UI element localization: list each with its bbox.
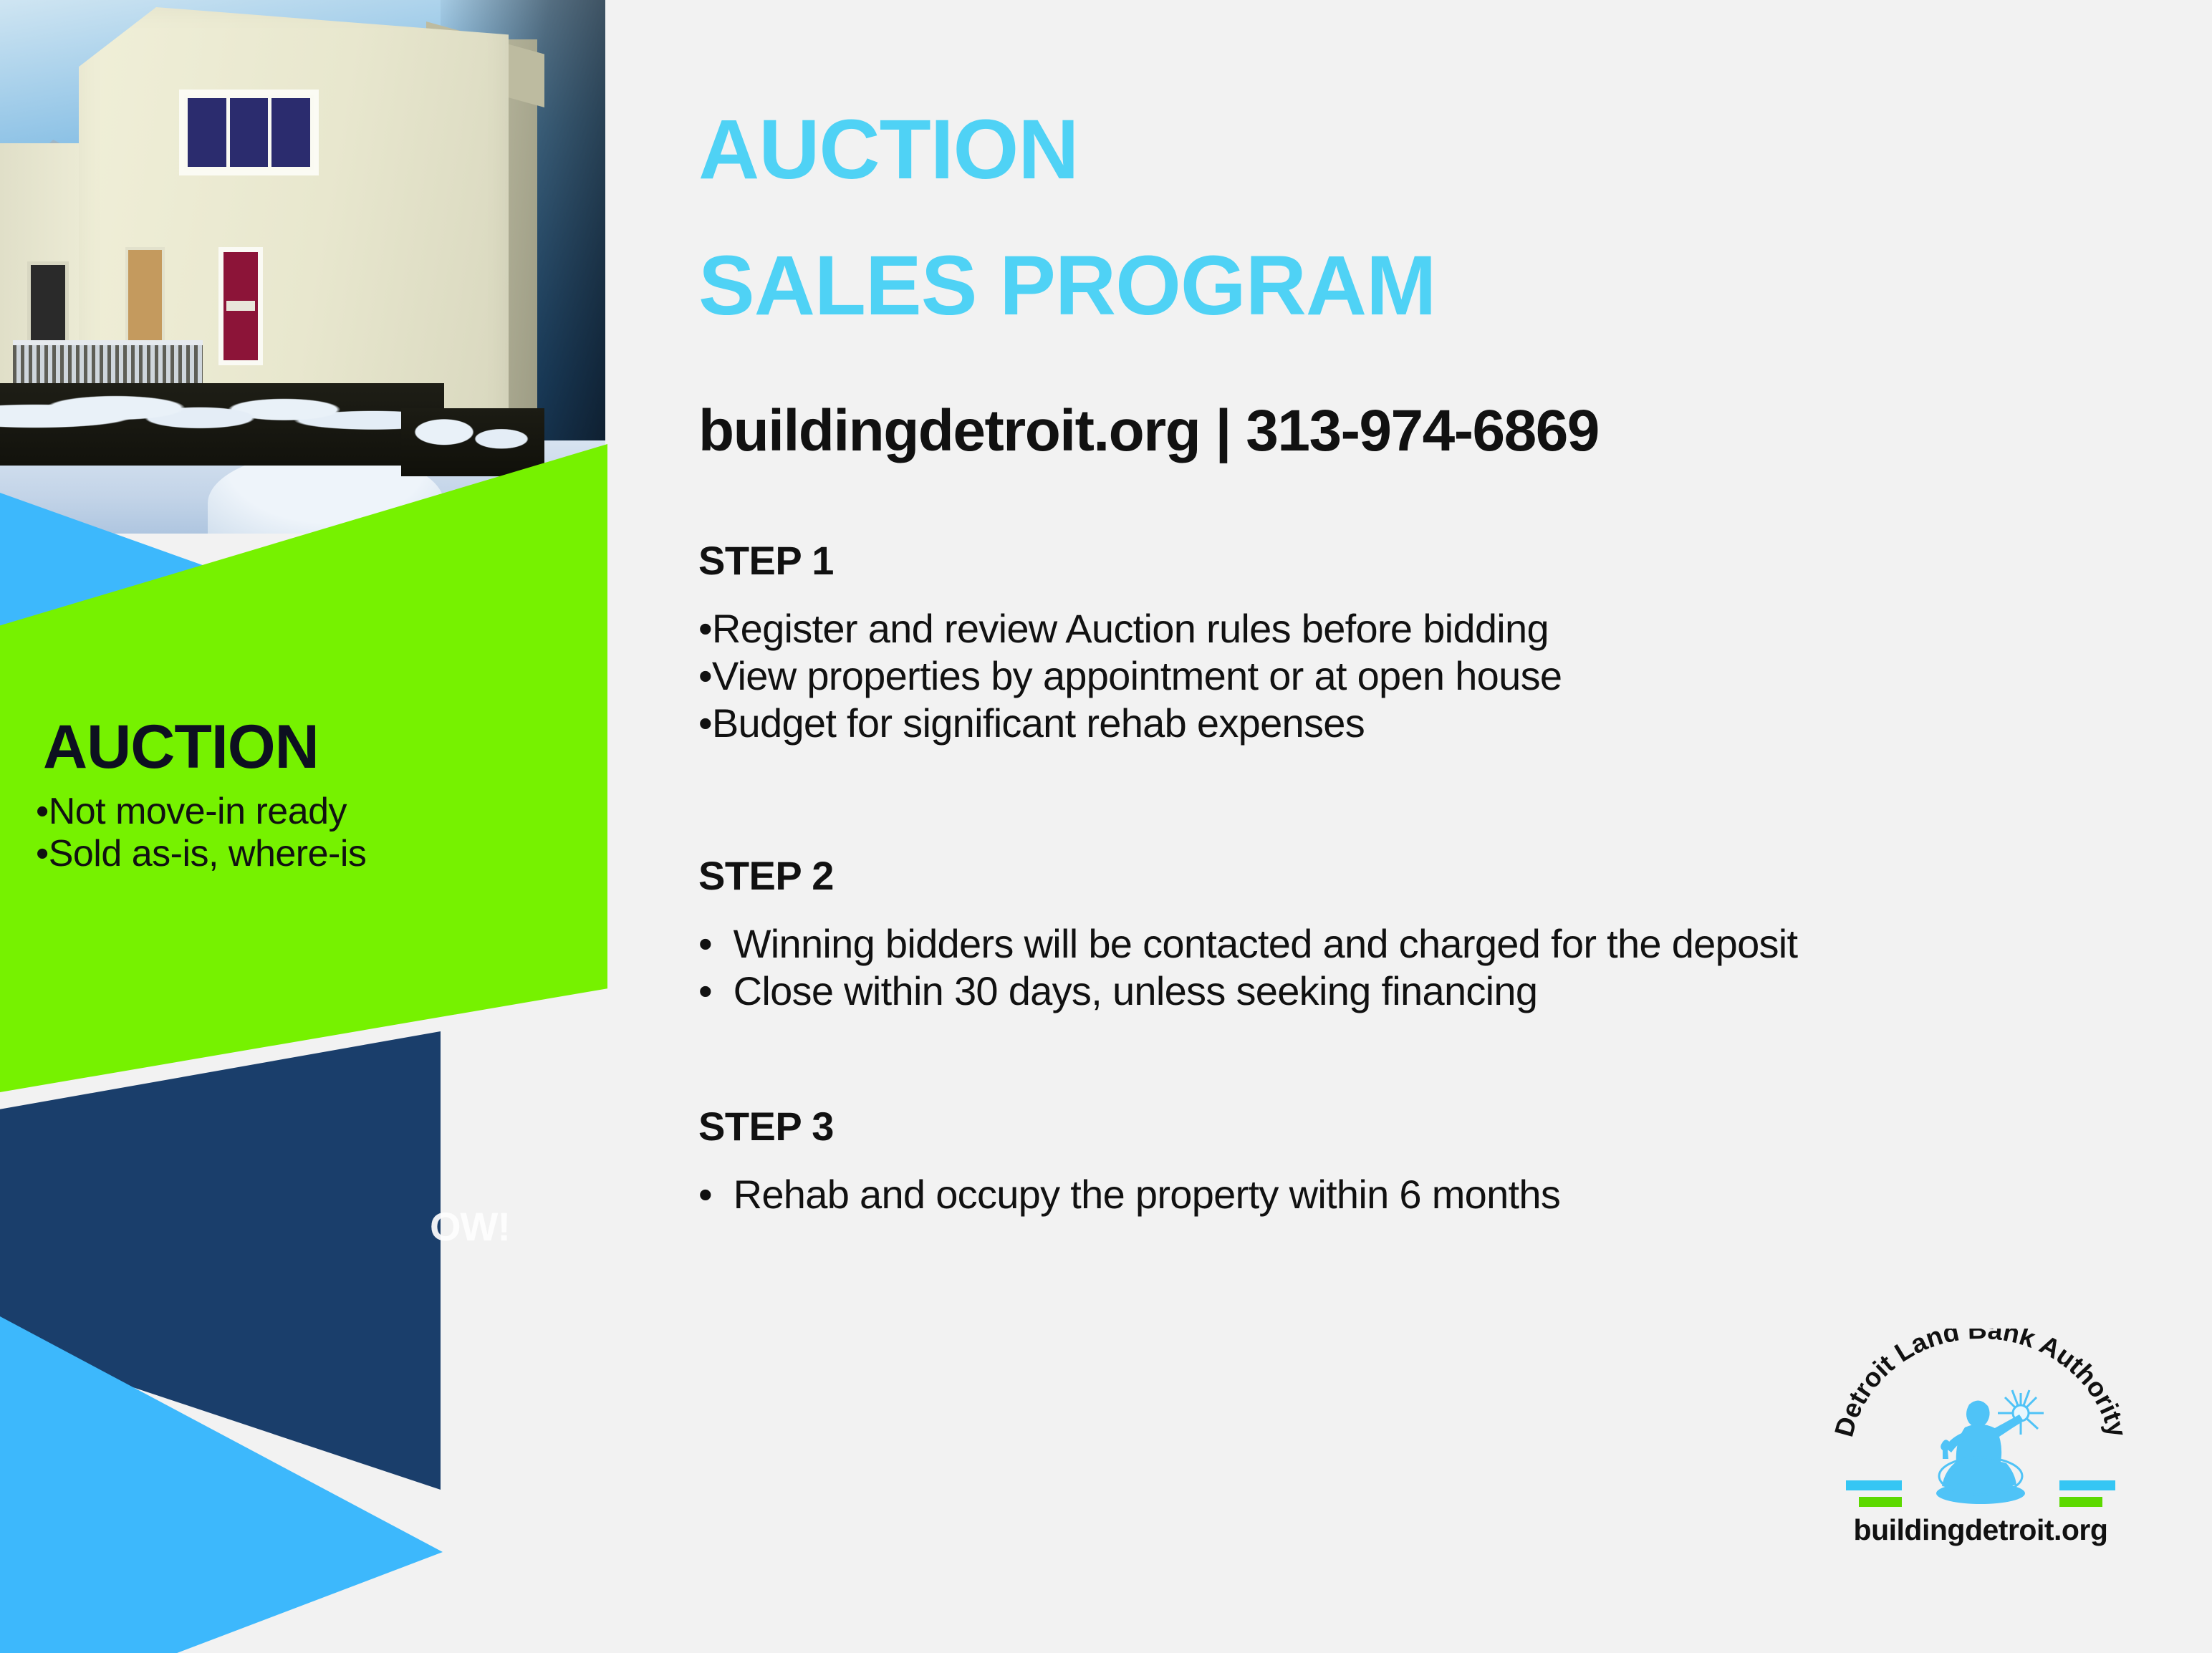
- window-pane: [230, 98, 269, 167]
- green-panel-heading: AUCTION: [0, 716, 559, 778]
- step-item-list: •Register and review Auction rules befor…: [698, 605, 2131, 747]
- step-item: •View properties by appointment or at op…: [698, 652, 2131, 700]
- green-panel-text: AUCTION •Not move-in ready •Sold as-is, …: [0, 716, 559, 875]
- step-section-1: STEP 1 •Register and review Auction rule…: [698, 537, 2131, 747]
- step-item-list: • Winning bidders will be contacted and …: [698, 920, 2131, 1015]
- step-item: • Rehab and occupy the property within 6…: [698, 1171, 2131, 1218]
- step-item: •Budget for significant rehab expenses: [698, 700, 2131, 747]
- window-pane: [188, 98, 226, 167]
- boarded-door: [125, 247, 165, 344]
- detroit-land-bank-logo: Detroit Land Bank Authority: [1830, 1329, 2131, 1572]
- green-panel-bullets: •Not move-in ready •Sold as-is, where-is: [0, 791, 559, 875]
- dash-cyan: [1846, 1480, 1902, 1490]
- green-bullet-item: •Sold as-is, where-is: [36, 833, 559, 875]
- dash-green: [1859, 1497, 1902, 1507]
- step-label: STEP 1: [698, 537, 2131, 584]
- snowy-bushes: [0, 383, 444, 466]
- logo-url-text: buildingdetroit.org: [1830, 1513, 2131, 1547]
- left-graphic-column: AUCTION •Not move-in ready •Sold as-is, …: [0, 0, 630, 1653]
- property-photo: [0, 0, 605, 534]
- spirit-of-detroit-icon: [1915, 1384, 2047, 1510]
- step-label: STEP 2: [698, 852, 2131, 899]
- green-bullet-item: •Not move-in ready: [36, 791, 559, 833]
- snowy-bushes-right: [401, 408, 544, 476]
- front-door: [218, 247, 263, 365]
- step-section-3: STEP 3 • Rehab and occupy the property w…: [698, 1103, 2131, 1218]
- logo-dash-left: [1846, 1480, 1902, 1507]
- step-item: • Winning bidders will be contacted and …: [698, 920, 2131, 968]
- window-pane: [271, 98, 310, 167]
- step-item: •Register and review Auction rules befor…: [698, 605, 2131, 652]
- page-title-line-1: AUCTION: [698, 107, 1079, 192]
- step-label: STEP 3: [698, 1103, 2131, 1150]
- dash-green: [2059, 1497, 2102, 1507]
- upper-window: [179, 90, 319, 175]
- ghost-text-fragment: OW!: [430, 1203, 510, 1250]
- contact-line: buildingdetroit.org | 313-974-6869: [698, 397, 1599, 465]
- page-title-line-2: SALES PROGRAM: [698, 244, 1436, 328]
- neighbor-door: [27, 261, 69, 344]
- step-item: • Close within 30 days, unless seeking f…: [698, 968, 2131, 1015]
- main-content: AUCTION SALES PROGRAM buildingdetroit.or…: [698, 0, 2212, 1653]
- porch-railing: [13, 340, 203, 385]
- step-item-list: • Rehab and occupy the property within 6…: [698, 1171, 2131, 1218]
- dash-cyan: [2059, 1480, 2115, 1490]
- step-section-2: STEP 2 • Winning bidders will be contact…: [698, 852, 2131, 1015]
- logo-dash-right: [2059, 1480, 2115, 1507]
